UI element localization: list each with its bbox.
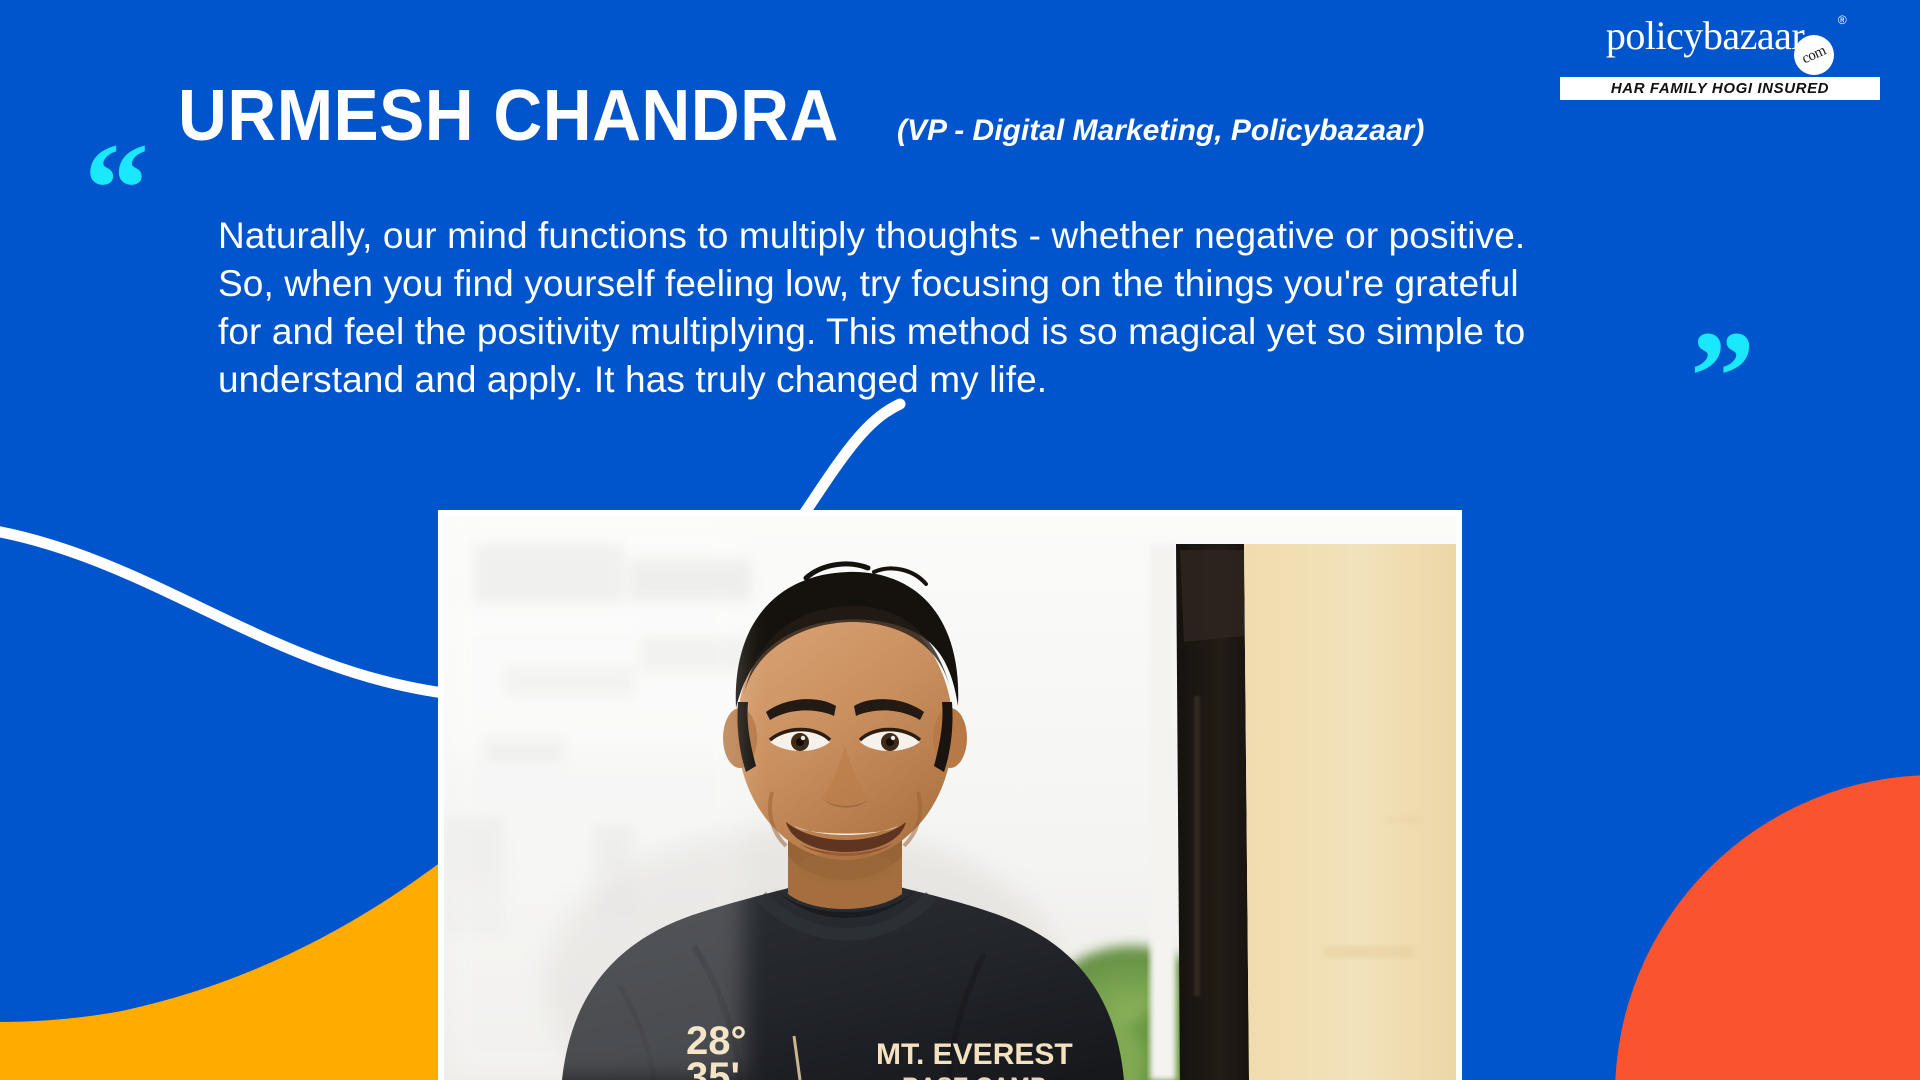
- quote-line-2: So, when you find yourself feeling low, …: [218, 260, 1478, 308]
- portrait-photo-content: 28° 35' MT. EVEREST BASE CAMP: [444, 516, 1456, 1080]
- quote-text: Naturally, our mind functions to multipl…: [218, 212, 1478, 404]
- quote-line-3: for and feel the positivity multiplying.…: [218, 308, 1478, 356]
- photo-frame: 28° 35' MT. EVEREST BASE CAMP: [438, 510, 1462, 1080]
- quote-line-4: understand and apply. It has truly chang…: [218, 356, 1478, 404]
- logo-tagline: HAR FAMILY HOGI INSURED: [1560, 77, 1880, 100]
- policybazaar-logo: policybazaarcom® HAR FAMILY HOGI INSURED: [1560, 16, 1880, 100]
- portrait-photo: 28° 35' MT. EVEREST BASE CAMP: [444, 516, 1456, 1080]
- logo-wordmark: policybazaarcom®: [1606, 16, 1834, 75]
- person-role: (VP - Digital Marketing, Policybazaar): [897, 116, 1424, 146]
- svg-text:MT. EVEREST: MT. EVEREST: [876, 1038, 1073, 1071]
- headline: URMESH CHANDRA (VP - Digital Marketing, …: [178, 80, 1424, 152]
- quote-line-1: Naturally, our mind functions to multipl…: [218, 212, 1478, 260]
- person-name: URMESH CHANDRA: [178, 80, 839, 152]
- logo-text-policy: policy: [1606, 13, 1703, 58]
- svg-text:BASE CAMP: BASE CAMP: [902, 1073, 1046, 1080]
- registered-trademark-icon: ®: [1838, 14, 1846, 26]
- logo-text-bazaar: bazaar: [1703, 13, 1804, 58]
- quote-close-icon: ”: [1690, 312, 1755, 442]
- quote-open-icon: “: [84, 124, 149, 254]
- testimonial-card: policybazaarcom® HAR FAMILY HOGI INSURED…: [0, 0, 1920, 1080]
